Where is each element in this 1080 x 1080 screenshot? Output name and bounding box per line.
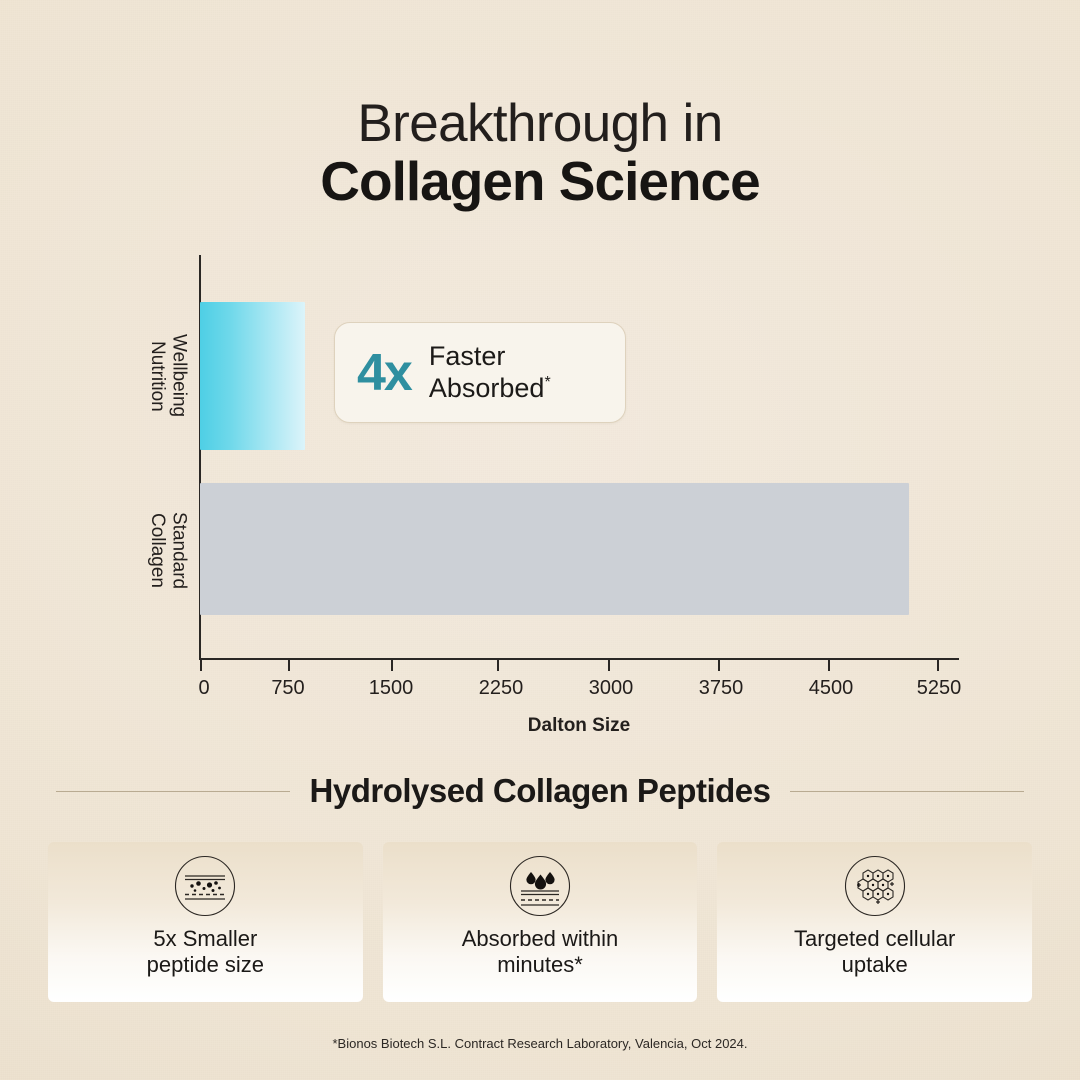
peptide-particles-icon (174, 855, 236, 917)
section-heading: Hydrolysed Collagen Peptides (310, 772, 771, 810)
bar-wellbeing-nutrition (200, 302, 305, 450)
x-tick-4500 (828, 658, 830, 671)
multiplier-caption: Faster Absorbed* (429, 341, 603, 404)
feature-label-absorbed-minutes: Absorbed within minutes* (462, 926, 619, 979)
x-tick-label-5250: 5250 (917, 677, 962, 700)
category-label-wellbeing-nutrition: Wellbeing Nutrition (146, 301, 190, 451)
bar-standard-collagen (200, 483, 909, 615)
honeycomb-cells-icon (844, 855, 906, 917)
divider-line-right (790, 791, 1024, 792)
feature-card-smaller-peptide: 5x Smaller peptide size (48, 842, 363, 1002)
footnote-marker: * (544, 374, 550, 391)
feature-label-smaller-peptide: 5x Smaller peptide size (147, 926, 264, 979)
title-line-1: Breakthrough in (0, 96, 1080, 151)
x-tick-2250 (497, 658, 499, 671)
x-tick-label-4500: 4500 (809, 677, 854, 700)
x-tick-3000 (608, 658, 610, 671)
feature-label-targeted-uptake: Targeted cellular uptake (794, 926, 955, 979)
chart-x-axis (199, 658, 959, 660)
title-line-2: Collagen Science (0, 151, 1080, 213)
study-footnote: *Bionos Biotech S.L. Contract Research L… (0, 1036, 1080, 1051)
multiplier-caption-text: Faster Absorbed (429, 341, 545, 402)
x-tick-label-2250: 2250 (479, 677, 524, 700)
x-tick-3750 (718, 658, 720, 671)
section-divider: Hydrolysed Collagen Peptides (56, 772, 1024, 810)
x-tick-5250 (937, 658, 939, 671)
x-axis-title: Dalton Size (199, 715, 959, 737)
x-tick-0 (200, 658, 202, 671)
x-tick-label-0: 0 (198, 677, 209, 700)
multiplier-value: 4x (357, 347, 411, 399)
feature-card-targeted-uptake: Targeted cellular uptake (717, 842, 1032, 1002)
x-tick-label-750: 750 (271, 677, 304, 700)
x-tick-label-3000: 3000 (589, 677, 634, 700)
x-tick-750 (288, 658, 290, 671)
droplet-absorption-icon (509, 855, 571, 917)
x-tick-label-1500: 1500 (369, 677, 414, 700)
page-title: Breakthrough in Collagen Science (0, 96, 1080, 213)
divider-line-left (56, 791, 290, 792)
x-tick-1500 (391, 658, 393, 671)
feature-card-absorbed-minutes: Absorbed within minutes* (383, 842, 698, 1002)
x-tick-label-3750: 3750 (699, 677, 744, 700)
feature-card-list: 5x Smaller peptide size Absorbed within … (48, 842, 1032, 1002)
category-label-standard-collagen: Standard Collagen (146, 483, 190, 618)
faster-absorbed-callout: 4x Faster Absorbed* (334, 322, 626, 423)
infographic-stage: Breakthrough in Collagen Science Wellbei… (0, 0, 1080, 1080)
